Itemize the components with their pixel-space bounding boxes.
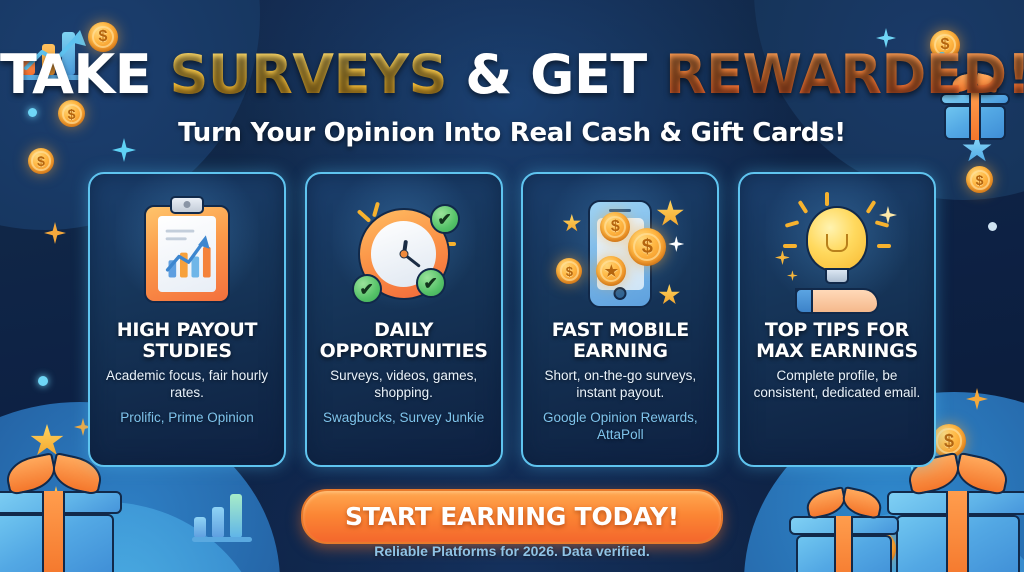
card-description: Complete profile, be consistent, dedicat… — [750, 368, 924, 402]
card-title: TOP TIPS FOR MAX EARNINGS — [750, 320, 924, 361]
sparkle-icon — [775, 250, 790, 265]
checkmark-icon: ✔ — [416, 268, 446, 298]
card-title: HIGH PAYOUT STUDIES — [100, 320, 274, 361]
headline-part-2: SURVEYS — [169, 43, 447, 106]
checkmark-icon: ✔ — [430, 204, 460, 234]
card-title: DAILY OPPORTUNITIES — [317, 320, 491, 361]
feature-card-top-tips[interactable]: TOP TIPS FOR MAX EARNINGS Complete profi… — [738, 172, 936, 467]
star-icon — [656, 200, 684, 228]
dot-icon — [28, 108, 37, 117]
dot-icon — [38, 376, 48, 386]
star-icon — [562, 214, 581, 233]
coin-icon: $ — [556, 258, 582, 284]
feature-card-high-payout-studies[interactable]: HIGH PAYOUT STUDIES Academic focus, fair… — [88, 172, 286, 467]
checkmark-icon: ✔ — [352, 274, 382, 304]
footer-note: Reliable Platforms for 2026. Data verifi… — [0, 543, 1024, 559]
feature-card-fast-mobile-earning[interactable]: $ $ ★ $ FAST MOBILE EARNING Short, on-th… — [521, 172, 719, 467]
headline-part-4: REWARDED! — [665, 43, 1024, 106]
poster-canvas: $ $ $ $ $ $ $ $ — [0, 0, 1024, 572]
dot-icon — [988, 222, 997, 231]
phone-coins-icon: $ $ ★ $ — [533, 188, 707, 320]
page-title: TAKE SURVEYS & GET REWARDED! — [0, 48, 1024, 102]
page-subtitle: Turn Your Opinion Into Real Cash & Gift … — [0, 118, 1024, 148]
start-earning-button[interactable]: START EARNING TODAY! — [301, 489, 723, 544]
card-platforms: Google Opinion Rewards, AttaPoll — [533, 410, 707, 444]
card-description: Academic focus, fair hourly rates. — [100, 368, 274, 402]
sparkle-icon — [44, 222, 66, 244]
sparkle-icon — [966, 388, 988, 410]
card-description: Short, on-the-go surveys, instant payout… — [533, 368, 707, 402]
clipboard-chart-icon — [100, 188, 274, 320]
card-description: Surveys, videos, games, shopping. — [317, 368, 491, 402]
card-title: FAST MOBILE EARNING — [533, 320, 707, 361]
gift-box-icon — [796, 502, 892, 572]
headline-part-1: TAKE — [0, 43, 169, 106]
feature-card-list: HIGH PAYOUT STUDIES Academic focus, fair… — [88, 172, 936, 467]
card-platforms: Prolific, Prime Opinion — [100, 410, 274, 427]
card-platforms: Swagbucks, Survey Junkie — [317, 410, 491, 427]
coin-icon: $ — [28, 148, 54, 174]
lightbulb-hand-icon — [750, 188, 924, 320]
coin-icon: $ — [966, 166, 993, 193]
sparkle-icon — [787, 270, 798, 281]
headline-part-3: & GET — [447, 43, 665, 106]
sparkle-icon — [668, 236, 684, 252]
feature-card-daily-opportunities[interactable]: ✔ ✔ ✔ DAILY OPPORTUNITIES Surveys, video… — [305, 172, 503, 467]
bar-chart-icon — [192, 496, 252, 544]
star-icon — [658, 284, 680, 306]
clock-checkmarks-icon: ✔ ✔ ✔ — [317, 188, 491, 320]
coin-icon: $ — [628, 228, 666, 266]
